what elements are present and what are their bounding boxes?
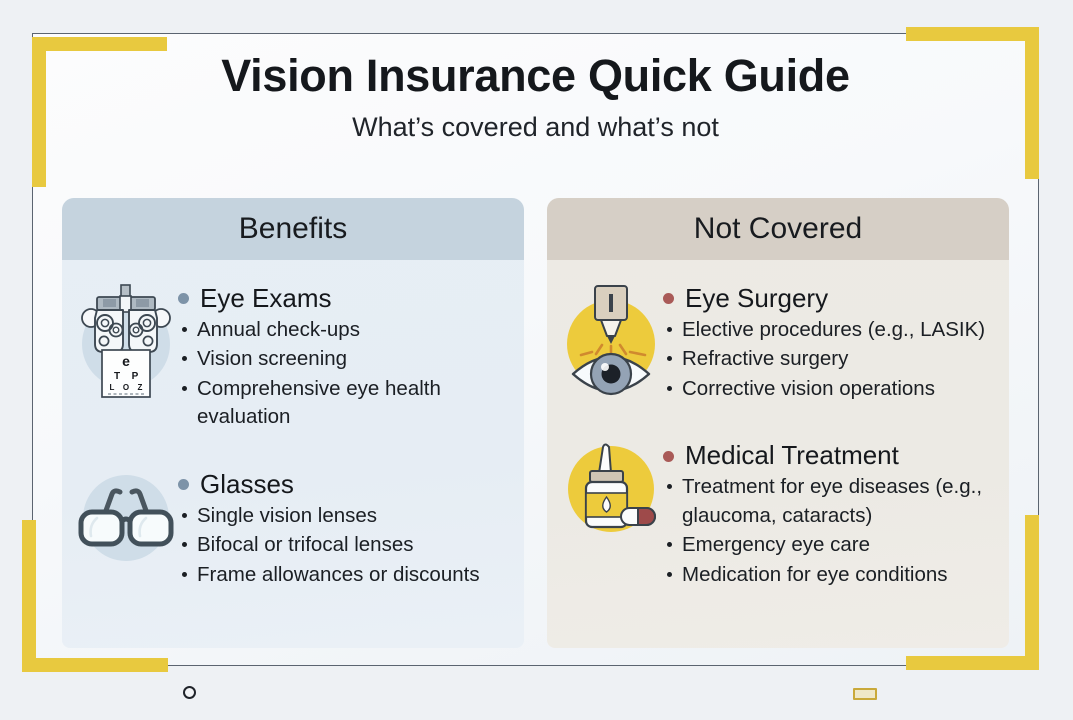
svg-text:T: T: [114, 371, 120, 382]
svg-text:L: L: [110, 383, 115, 392]
eyeglasses-icon: [74, 468, 178, 568]
topic-eye-surgery-head: Eye Surgery: [663, 284, 995, 314]
bullet-dot-icon: [178, 479, 189, 490]
list-item: Annual check-ups: [178, 316, 510, 344]
svg-text:O: O: [123, 383, 129, 392]
topic-medical-treatment-head: Medical Treatment: [663, 441, 995, 471]
bullet-dot-icon: [663, 451, 674, 462]
list-item: Refractive surgery: [663, 345, 995, 373]
svg-text:Z: Z: [138, 383, 143, 392]
topic-title: Eye Exams: [200, 284, 332, 314]
list-item: Elective procedures (e.g., LASIK): [663, 316, 995, 344]
list-item: Frame allowances or discounts: [178, 561, 510, 589]
topic-glasses-text: Glasses Single vision lenses Bifocal or …: [178, 468, 510, 589]
panel-not-covered-body: Eye Surgery Elective procedures (e.g., L…: [547, 260, 1009, 589]
bullet-dot-icon: [178, 293, 189, 304]
topic-title: Glasses: [200, 470, 294, 500]
topic-eye-exams: e T P L O Z Eye Exams Annual: [62, 282, 524, 432]
list-item: Corrective vision operations: [663, 375, 995, 403]
topic-eye-surgery-text: Eye Surgery Elective procedures (e.g., L…: [663, 282, 995, 403]
topic-glasses: Glasses Single vision lenses Bifocal or …: [62, 468, 524, 589]
poster-header: Vision Insurance Quick Guide What’s cove…: [32, 52, 1039, 142]
topic-medical-treatment-list: Treatment for eye diseases (e.g., glauco…: [663, 473, 995, 589]
svg-text:P: P: [132, 371, 139, 382]
list-item: Treatment for eye diseases (e.g., glauco…: [663, 473, 995, 530]
list-item: Vision screening: [178, 345, 510, 373]
list-item: Emergency eye care: [663, 531, 995, 559]
topic-medical-treatment-text: Medical Treatment Treatment for eye dise…: [663, 439, 995, 589]
list-item: Comprehensive eye health evaluation: [178, 375, 510, 432]
rectangle-mark-icon: [853, 688, 877, 700]
panel-not-covered: Not Covered: [547, 198, 1009, 648]
panel-benefits-heading: Benefits: [62, 198, 524, 260]
topic-eye-surgery-list: Elective procedures (e.g., LASIK) Refrac…: [663, 316, 995, 403]
svg-text:e: e: [122, 353, 130, 369]
bullet-dot-icon: [663, 293, 674, 304]
topic-glasses-list: Single vision lenses Bifocal or trifocal…: [178, 502, 510, 589]
panel-not-covered-heading: Not Covered: [547, 198, 1009, 260]
poster-canvas: Vision Insurance Quick Guide What’s cove…: [0, 0, 1073, 720]
topic-medical-treatment: Medical Treatment Treatment for eye dise…: [547, 439, 1009, 589]
list-item: Bifocal or trifocal lenses: [178, 531, 510, 559]
topic-eye-exams-list: Annual check-ups Vision screening Compre…: [178, 316, 510, 432]
topic-glasses-head: Glasses: [178, 470, 510, 500]
circle-mark-icon: [183, 686, 196, 699]
panel-benefits-body: e T P L O Z Eye Exams Annual: [62, 260, 524, 589]
list-item: Medication for eye conditions: [663, 561, 995, 589]
topic-eye-surgery: Eye Surgery Elective procedures (e.g., L…: [547, 282, 1009, 403]
laser-eye-surgery-icon: [559, 282, 663, 398]
page-subtitle: What’s covered and what’s not: [32, 113, 1039, 143]
list-item: Single vision lenses: [178, 502, 510, 530]
page-title: Vision Insurance Quick Guide: [32, 52, 1039, 101]
topic-title: Medical Treatment: [685, 441, 899, 471]
phoropter-eye-chart-icon: e T P L O Z: [74, 282, 178, 398]
topic-eye-exams-text: Eye Exams Annual check-ups Vision screen…: [178, 282, 510, 432]
eye-drop-bottle-pill-icon: [559, 439, 663, 539]
topic-eye-exams-head: Eye Exams: [178, 284, 510, 314]
panel-benefits: Benefits: [62, 198, 524, 648]
topic-title: Eye Surgery: [685, 284, 828, 314]
